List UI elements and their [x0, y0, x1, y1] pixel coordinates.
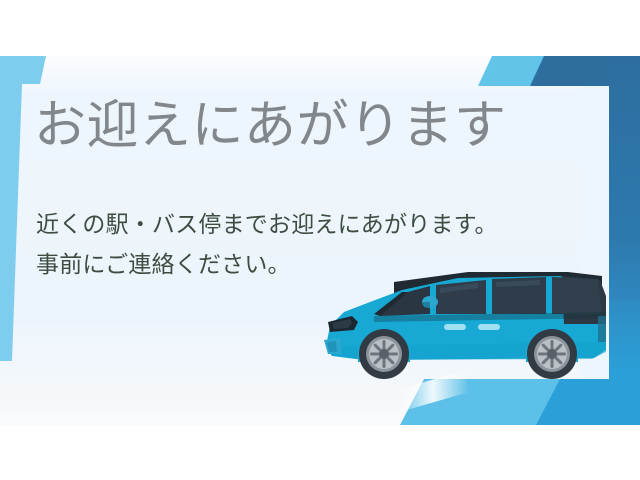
body-line-1: 近くの駅・バス停までお迎えにあがります。 — [36, 205, 498, 245]
banner-image: お迎えにあがります 近くの駅・バス停までお迎えにあがります。 事前にご連絡くださ… — [0, 0, 640, 480]
minivan-illustration — [318, 250, 618, 395]
page-title: お迎えにあがります — [34, 97, 507, 155]
